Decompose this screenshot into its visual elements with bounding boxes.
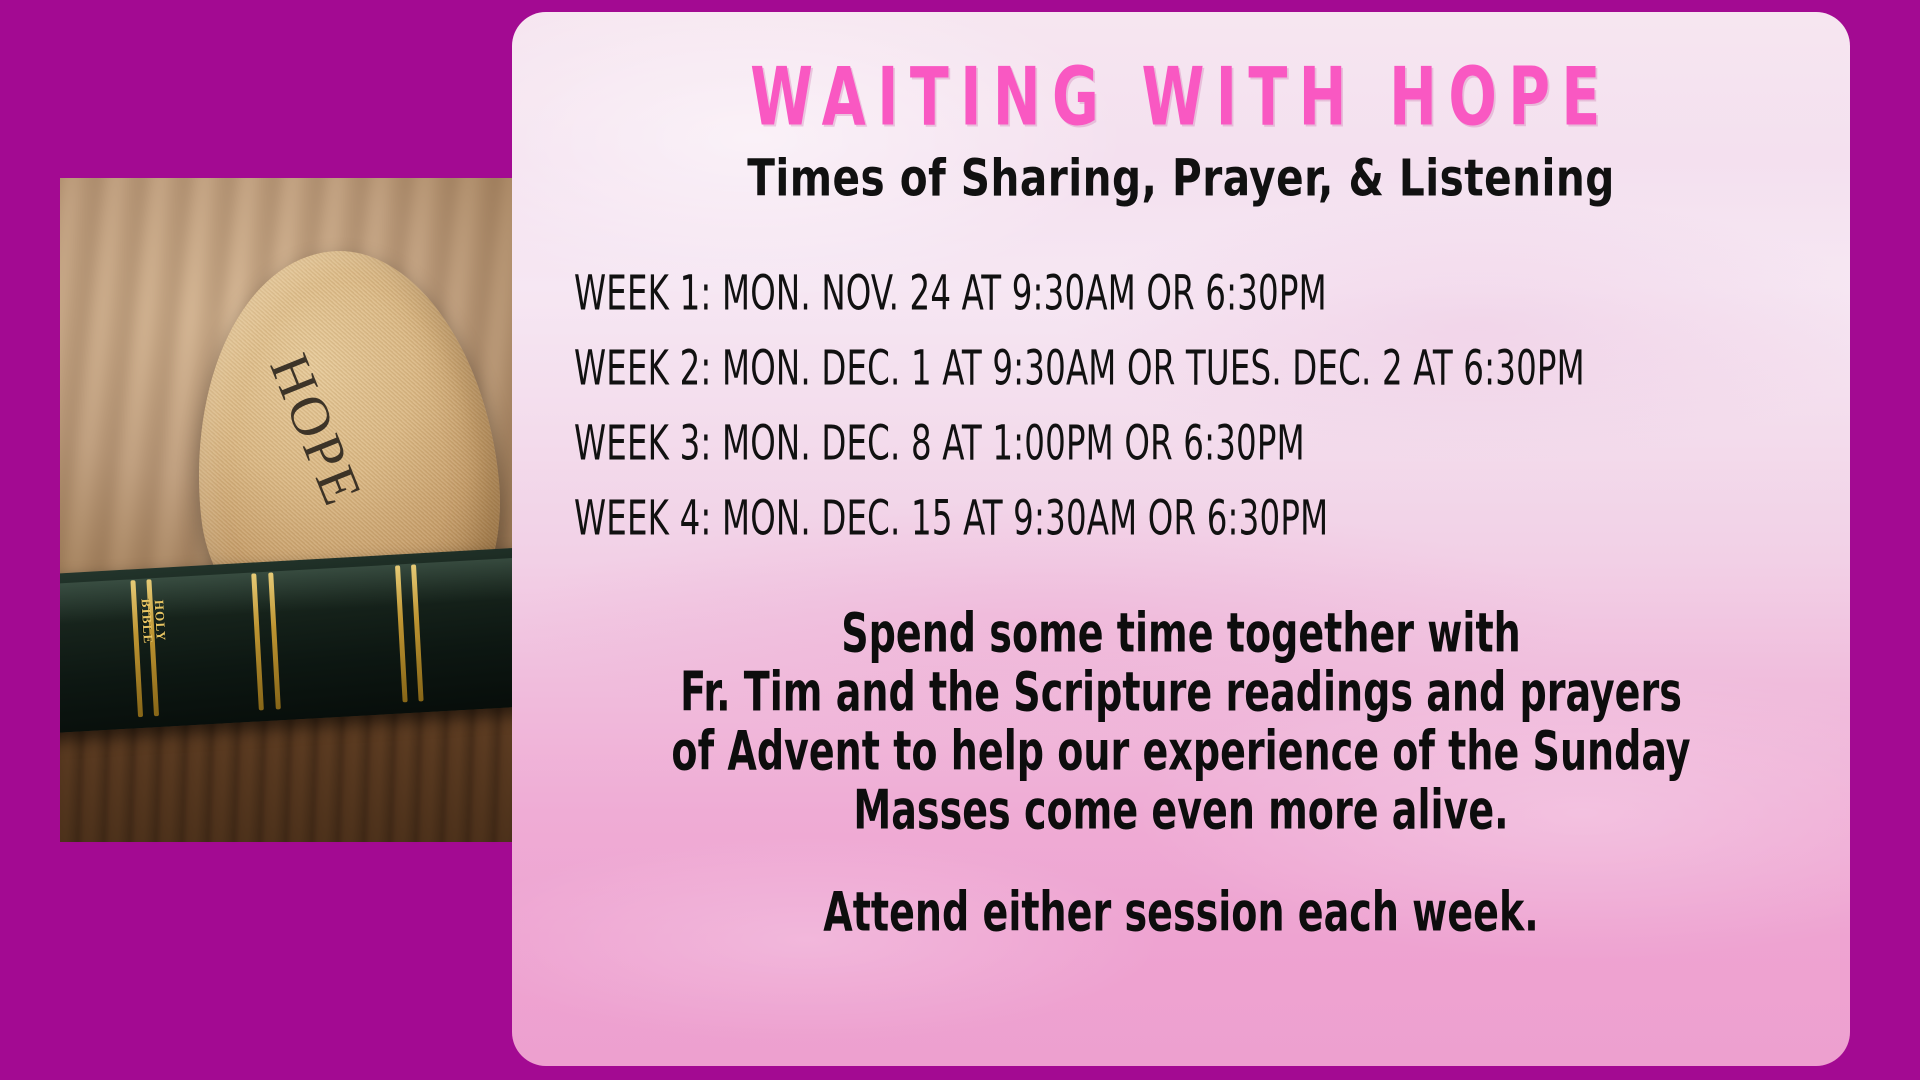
card-content: WAITING WITH HOPE Times of Sharing, Pray…	[512, 12, 1850, 939]
hope-heart-bible-photo: HOPE HOLY BIBLE	[60, 178, 514, 842]
photo-inner: HOPE HOLY BIBLE	[60, 178, 514, 842]
holy-bible-book: HOLY BIBLE	[60, 544, 514, 735]
schedule-list: WEEK 1: MON. NOV. 24 AT 9:30AM OR 6:30PM…	[538, 206, 1824, 556]
page-subtitle: Times of Sharing, Prayer, & Listening	[577, 134, 1786, 208]
bible-spine-line-2: BIBLE	[139, 590, 155, 653]
page-title: WAITING WITH HOPE	[615, 12, 1747, 143]
content-card: WAITING WITH HOPE Times of Sharing, Pray…	[512, 12, 1850, 1066]
heart-hope-text: HOPE	[257, 346, 376, 517]
closing-line: Attend either session each week.	[602, 832, 1759, 947]
bible-spine-text: HOLY BIBLE	[139, 590, 168, 653]
description-block: Spend some time together with Fr. Tim an…	[538, 556, 1824, 939]
schedule-item-week-4: WEEK 4: MON. DEC. 15 AT 9:30AM OR 6:30PM	[574, 474, 1674, 563]
poster-canvas: HOPE HOLY BIBLE WAITING WITH HOPE Times …	[0, 0, 1920, 1080]
